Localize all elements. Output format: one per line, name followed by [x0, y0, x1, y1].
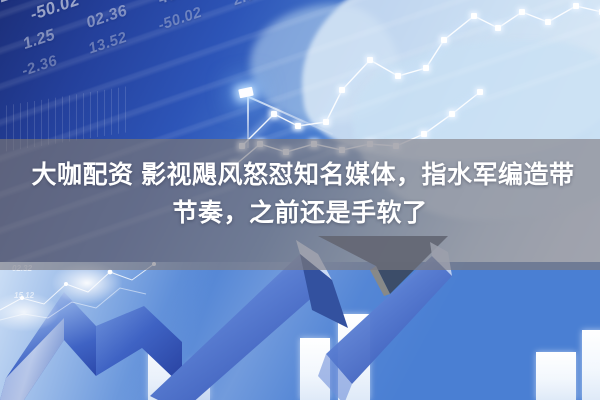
bar-silhouette — [582, 330, 600, 400]
bar-silhouette — [536, 352, 576, 400]
headline-caption: 大咖配资 影视飓风怒怼知名媒体，指水军编造带 节奏，之前还是手软了 — [0, 139, 600, 270]
caption-line-2: 节奏，之前还是手软了 — [172, 194, 427, 232]
spark-label: 15.12 — [14, 291, 34, 300]
caption-line-1: 大咖配资 影视飓风怒怼知名媒体，指水军编造带 — [26, 156, 575, 194]
banner-image: -08.02 -02.35 21.05 45.02 8.36 2.36 -11.… — [0, 0, 600, 400]
